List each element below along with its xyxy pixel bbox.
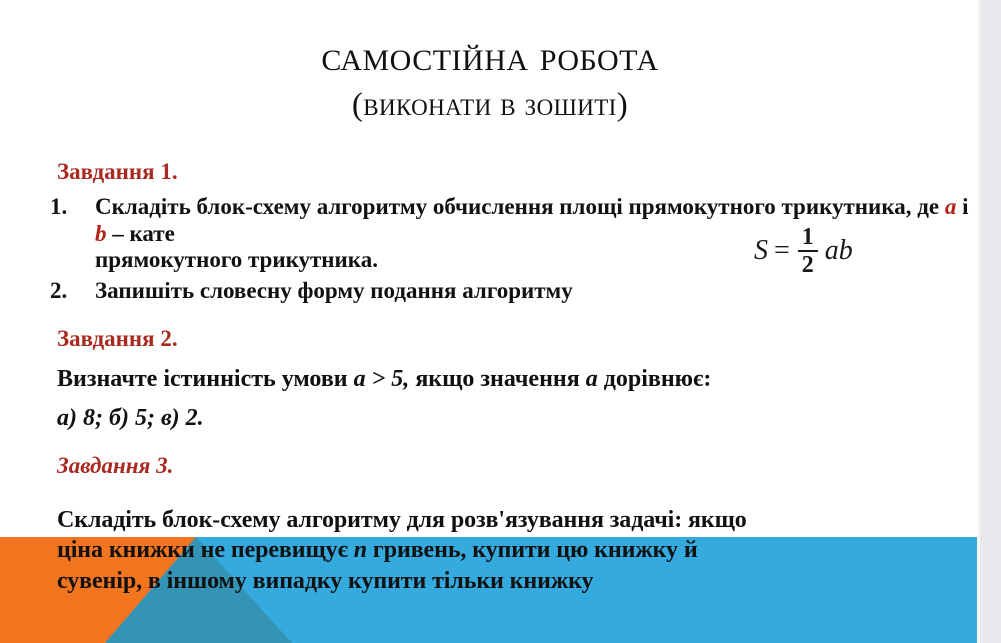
task2-variable-a: a	[586, 366, 598, 392]
task3-line1: Складіть блок-схему алгоритму для розв'я…	[57, 505, 980, 535]
slide-canvas: САМОСТІЙНА РОБОТА (ВИКОНАТИ В ЗОШИТІ) За…	[0, 0, 1001, 643]
task3-line3: сувенір, в іншому випадку купити тільки …	[57, 566, 980, 596]
formula-variables: ab	[825, 235, 853, 267]
task2-options: а) 8; б) 5; в) 2.	[57, 404, 980, 433]
list-item-number: 1.	[50, 194, 67, 221]
variable-b: b	[95, 221, 107, 246]
task2-condition: a > 5,	[354, 366, 410, 392]
task3-text-after: гривень, купити цю книжку й	[367, 537, 698, 563]
formula-denominator: 2	[798, 252, 818, 277]
area-formula-box: S=12ab	[754, 222, 889, 280]
task2-heading: Завдання 2.	[57, 325, 980, 353]
list-item-text-tail: прямокутного трикутника.	[95, 247, 378, 272]
formula-fraction: 12	[798, 225, 818, 277]
task2-text-before: Визначте істинність умови	[57, 366, 354, 392]
title-block: САМОСТІЙНА РОБОТА (ВИКОНАТИ В ЗОШИТІ)	[0, 34, 980, 123]
area-formula: S=12ab	[754, 225, 853, 277]
list-item: 2.Запишіть словесну форму подання алгори…	[0, 278, 980, 305]
task3-text-before: ціна книжки не перевищує	[57, 537, 354, 563]
conjunction: і	[956, 194, 968, 219]
list-item-number: 2.	[50, 278, 67, 305]
task3-heading: Завдання 3.	[57, 452, 980, 480]
task2-text-after: дорівнює:	[598, 366, 712, 392]
task2-line1: Визначте істинність умови a > 5, якщо зн…	[57, 365, 980, 394]
task3-body: Складіть блок-схему алгоритму для розв'я…	[0, 505, 980, 596]
task3-variable-n: n	[354, 537, 367, 563]
list-item-text-after: – кате	[107, 221, 175, 246]
page-title: САМОСТІЙНА РОБОТА	[0, 34, 980, 79]
body-content: Завдання 1. 1.Складіть блок-схему алгори…	[0, 158, 980, 480]
list-item-text-before: Складіть блок-схему алгоритму обчислення…	[95, 194, 945, 219]
task3-line2: ціна книжки не перевищує n гривень, купи…	[57, 535, 980, 565]
formula-lhs: S	[754, 235, 768, 267]
formula-numerator: 1	[798, 225, 818, 250]
list-item-text: Запишіть словесну форму подання алгоритм…	[95, 278, 573, 303]
formula-equals: =	[773, 235, 791, 267]
right-edge-strip	[980, 0, 1001, 643]
task1-heading: Завдання 1.	[57, 158, 980, 186]
variable-a: a	[945, 194, 957, 219]
task2-text-mid: якщо значення	[409, 366, 585, 392]
page-subtitle: (ВИКОНАТИ В ЗОШИТІ)	[0, 88, 980, 123]
